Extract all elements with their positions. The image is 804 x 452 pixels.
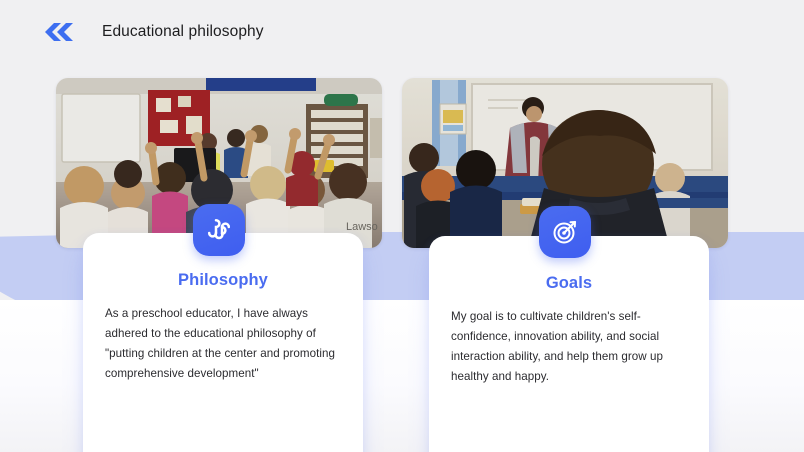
card-grid: Lawso xyxy=(0,0,804,452)
card-philosophy[interactable]: Lawso xyxy=(56,78,382,408)
page-root: Educational philosophy xyxy=(0,0,804,452)
philosophy-body: As a preschool educator, I have always a… xyxy=(105,304,341,384)
philosophy-text-card: Philosophy As a preschool educator, I ha… xyxy=(83,233,363,452)
header-bar: Educational philosophy xyxy=(0,0,804,64)
goals-title: Goals xyxy=(451,274,687,293)
back-button[interactable] xyxy=(36,18,76,46)
page-title: Educational philosophy xyxy=(102,23,264,41)
target-arrow-icon xyxy=(552,219,578,245)
goals-body: My goal is to cultivate children's self-… xyxy=(451,307,687,387)
card-goals[interactable]: Goals My goal is to cultivate children's… xyxy=(402,78,728,408)
goals-text-card: Goals My goal is to cultivate children's… xyxy=(429,236,709,452)
philosophy-badge xyxy=(193,204,245,256)
double-chevron-left-icon xyxy=(39,22,73,42)
philosophy-title: Philosophy xyxy=(105,271,341,290)
goals-badge xyxy=(539,206,591,258)
clover-cross-icon xyxy=(206,217,232,243)
